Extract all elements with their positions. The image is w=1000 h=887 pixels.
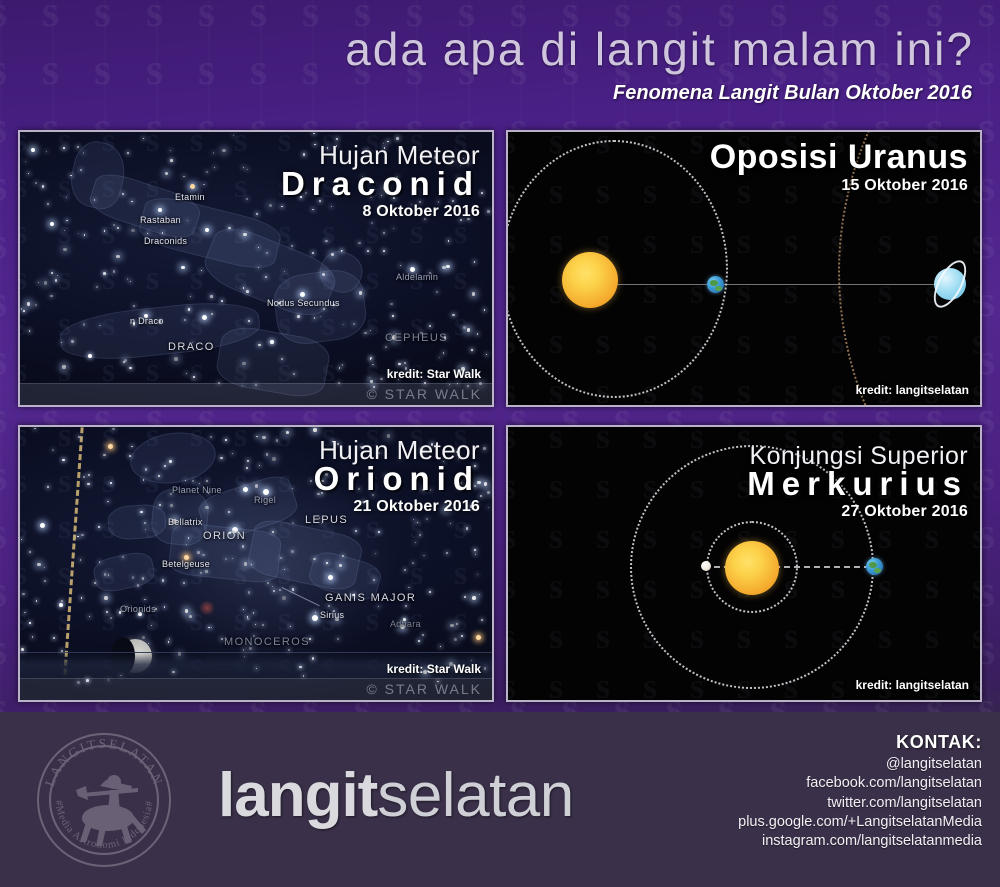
star [393,228,394,229]
star [192,342,193,343]
star [242,362,246,366]
star-nodus-secundus [300,292,305,297]
star [429,591,431,593]
star [63,147,65,149]
star [27,302,31,306]
star [129,367,132,370]
wordmark-bold: langit [218,761,377,830]
panel-name: Draconid [281,167,480,202]
star [314,144,315,145]
panel-orionid[interactable]: ssssssssssssssssssssssssssssssssssssssss… [18,425,494,702]
star [143,138,144,139]
star [341,250,342,251]
star [88,354,92,358]
star [21,308,23,310]
star [205,570,208,573]
sky-label-draconids: Draconids [144,236,187,246]
star [81,534,83,536]
star [94,582,96,584]
star [481,192,483,194]
sky-label-aldelamin: Aldelamin [396,272,438,282]
sky-label-canis-major: GANIS MAJOR [325,592,416,604]
star [170,159,173,162]
star [370,196,372,198]
star [412,562,414,564]
star [206,171,208,173]
star [140,511,142,513]
wordmark-light: selatan [377,761,573,830]
star [104,596,108,600]
contact-instagram[interactable]: instagram.com/langitselatanmedia [738,832,982,851]
panel-date: 8 Oktober 2016 [281,203,480,221]
star [405,605,407,607]
star [337,443,338,444]
star [233,135,234,136]
infographic-poster: ssssssssssssssssssssssssssssssssssssssss… [0,0,1000,887]
star [189,615,193,619]
star [284,271,285,272]
star [246,467,248,469]
earth-body [707,276,724,293]
star [66,220,68,222]
star [457,177,459,179]
star [174,357,178,361]
star [474,549,476,551]
star [63,248,67,252]
star [148,643,149,644]
star [381,195,382,196]
star [193,376,195,378]
star [110,617,112,619]
star [460,219,462,221]
star-bright [40,523,45,528]
star [246,198,248,200]
star [96,286,98,288]
star [458,458,459,459]
star [246,290,249,293]
star [232,453,233,454]
star [78,436,80,438]
star [52,449,54,451]
star [423,555,424,556]
star-bright [31,148,35,152]
star [44,567,45,568]
star [272,457,276,461]
star [248,591,251,594]
star [384,147,386,149]
star [310,480,312,482]
star [487,491,491,495]
star [452,200,454,202]
star [286,431,290,435]
star [170,504,173,507]
panel-merkurius[interactable]: ssssssssssssssssssssssssssssssssssssssss… [506,425,982,702]
earth-body [866,558,883,575]
star [119,611,121,613]
star [197,551,200,554]
star [266,453,268,455]
contact-title: KONTAK: [738,732,982,753]
star [475,554,476,555]
star [127,152,128,153]
star [383,187,387,191]
star [28,173,29,174]
star [104,573,106,575]
star [300,196,302,198]
star [116,255,120,259]
star [186,373,187,374]
star [464,596,466,598]
star [313,133,314,134]
star [113,270,116,273]
star [113,224,115,226]
star [450,624,454,628]
star [303,153,305,155]
star [259,465,260,466]
star [201,270,202,271]
star [89,616,91,618]
star [358,488,360,490]
star [185,480,186,481]
star [372,364,373,365]
star [484,309,485,310]
star [383,143,384,144]
star [77,146,79,148]
star [107,501,108,502]
starwalk-watermark-bar: © STAR WALK [20,383,492,405]
star [291,245,293,247]
star [477,574,478,575]
contact-facebook[interactable]: facebook.com/langitselatan [738,774,982,793]
star [371,222,373,224]
star [336,138,338,140]
panel-credit-merkurius: kredit: langitselatan [856,678,969,692]
star [190,296,191,297]
starwalk-watermark-text: © STAR WALK [366,386,482,402]
star [424,218,426,220]
star [472,292,476,296]
star [80,559,81,560]
star [244,656,245,657]
star [262,436,266,440]
orion-nebula [198,601,216,615]
star [253,612,255,614]
star [35,304,37,306]
star [34,428,35,429]
star [29,622,30,623]
star [55,279,58,282]
star [71,340,73,342]
star [203,184,205,186]
star [106,611,109,614]
star [62,459,64,461]
star [62,365,66,369]
star [408,587,410,589]
star [36,600,37,601]
star [477,481,481,485]
panel-kicker: Hujan Meteor [314,437,480,464]
star [64,230,65,231]
star [417,522,418,523]
star [137,584,139,586]
star [243,287,244,288]
star [466,527,468,529]
star [183,582,185,584]
star [422,451,425,454]
star-bright [328,575,333,580]
contact-twitter[interactable]: twitter.com/langitselatan [738,794,982,813]
sky-label-lepus: LEPUS [305,514,348,526]
star [400,458,401,459]
star [142,636,146,640]
star [353,323,355,325]
star [419,201,421,203]
star [181,266,185,270]
panel-credit-orionid: kredit: Star Walk [387,662,481,676]
star [472,596,476,600]
seal-icon: LANGITSELATAN #Media Astronomi Indonesia… [34,730,174,870]
star [66,197,67,198]
star [21,539,22,540]
star [479,594,480,595]
star [358,242,360,244]
star [339,367,341,369]
star [256,213,259,216]
starwalk-watermark-bar: © STAR WALK [20,678,492,700]
star [483,447,485,449]
star [61,650,63,652]
star [59,603,63,607]
star-rastaban [158,208,162,212]
star [430,489,431,490]
sky-label-orion: ORION [203,530,246,542]
panel-draconid[interactable]: ssssssssssssssssssssssssssssssssssssssss… [18,130,494,407]
star [22,593,24,595]
star [325,473,327,475]
star [456,451,458,453]
star [404,362,406,364]
star [436,291,438,293]
star [23,310,25,312]
star [256,436,258,438]
langitselatan-seal-logo[interactable]: LANGITSELATAN #Media Astronomi Indonesia… [34,730,174,870]
star [314,317,315,318]
star [170,150,171,151]
star [220,457,222,459]
footer: LANGITSELATAN #Media Astronomi Indonesia… [0,712,1000,887]
star [467,328,471,332]
star [422,489,425,492]
starwalk-watermark-text: © STAR WALK [366,681,482,697]
contact-block: KONTAK: @langitselatan facebook.com/lang… [738,732,982,851]
star [463,326,466,329]
star [84,234,85,235]
langitselatan-wordmark: langitselatan [218,765,574,827]
star [418,640,420,642]
star [446,265,450,269]
star [463,158,464,159]
star [467,218,469,220]
star [46,151,48,153]
star [448,240,449,241]
mercury-body [701,561,711,571]
star [477,333,479,335]
star [247,460,249,462]
star [419,534,421,536]
star [373,579,375,581]
star [429,325,431,327]
star [487,210,490,213]
star [53,637,55,639]
star [385,475,386,476]
star [326,562,328,564]
star [270,341,271,342]
star [360,446,362,448]
star [378,531,380,533]
sky-label-rastaban: Rastaban [140,215,181,225]
star [331,206,332,207]
star [42,185,44,187]
star [169,638,170,639]
star [50,295,53,298]
star [292,588,294,590]
star [297,315,300,318]
contact-googleplus[interactable]: plus.google.com/+LangitselatanMedia [738,813,982,832]
star [168,641,170,643]
star [355,530,357,532]
star [396,137,399,140]
star [367,250,369,252]
contact-instagram-handle[interactable]: @langitselatan [738,755,982,774]
star [126,606,127,607]
sun-body [562,252,618,308]
star [383,250,384,251]
star [387,434,391,438]
star [332,441,334,443]
star [456,623,459,626]
star [385,346,387,348]
star [380,207,381,208]
star [396,176,398,178]
star [444,336,447,339]
star [471,349,473,351]
sky-label-monoceros: MONOCEROS [224,636,310,648]
star [390,303,393,306]
orbit-diagram-merkurius: ssssssssssssssssssssssssssssssssssssssss… [508,427,980,700]
star [205,506,209,510]
star [422,634,423,635]
star [129,455,131,457]
star [284,569,285,570]
star [280,557,281,558]
star [122,556,124,558]
star [29,330,30,331]
star [444,508,448,512]
star [112,428,114,430]
star [61,600,63,602]
star [443,461,444,462]
star [120,675,121,676]
star [450,523,452,525]
star [143,479,144,480]
star [413,519,414,520]
sky-chart-draconid: ssssssssssssssssssssssssssssssssssssssss… [20,132,492,405]
star [439,357,440,358]
star [183,176,185,178]
star [327,147,329,149]
star [202,554,204,556]
star [305,192,307,194]
star [292,522,294,524]
star [488,507,489,508]
star [400,265,401,266]
star [481,619,483,621]
star [486,354,487,355]
star [247,169,249,171]
sky-label-orionids: Orionids [120,604,156,614]
star [322,273,326,277]
star [426,518,428,520]
panel-kicker: Hujan Meteor [281,142,480,169]
star [51,272,53,274]
star [213,152,215,154]
star [312,252,314,254]
star [484,667,487,670]
star [317,493,319,495]
star [365,150,367,152]
star [383,232,385,234]
star [255,484,259,488]
star [364,332,366,334]
star [184,319,186,321]
star [165,172,169,176]
star [313,428,317,432]
sky-label-rigel: Rigel [254,495,276,505]
star [88,474,90,476]
star [32,636,34,638]
star [281,206,283,208]
star [460,165,461,166]
star [47,486,49,488]
star [192,480,194,482]
svg-text:LANGITSELATAN: LANGITSELATAN [42,736,166,788]
star [131,446,133,448]
star [78,233,79,234]
star [440,646,441,647]
star [332,155,333,156]
star [243,167,244,168]
header: ada apa di langit malam ini? Fenomena La… [0,0,1000,122]
star-etamin [190,184,195,189]
star [77,536,79,538]
star [352,594,355,597]
star [477,504,478,505]
panel-uranus[interactable]: ssssssssssssssssssssssssssssssssssssssss… [506,130,982,407]
star [398,363,401,366]
sky-label-etamin: Etamin [175,192,205,202]
star [291,550,294,553]
star [103,454,105,456]
star [130,281,131,282]
star [474,465,476,467]
star [272,586,273,587]
star [467,162,469,164]
star [438,201,439,202]
star-bright [50,222,54,226]
star-bright-warm [108,444,113,449]
star [369,377,370,378]
star [362,501,365,504]
